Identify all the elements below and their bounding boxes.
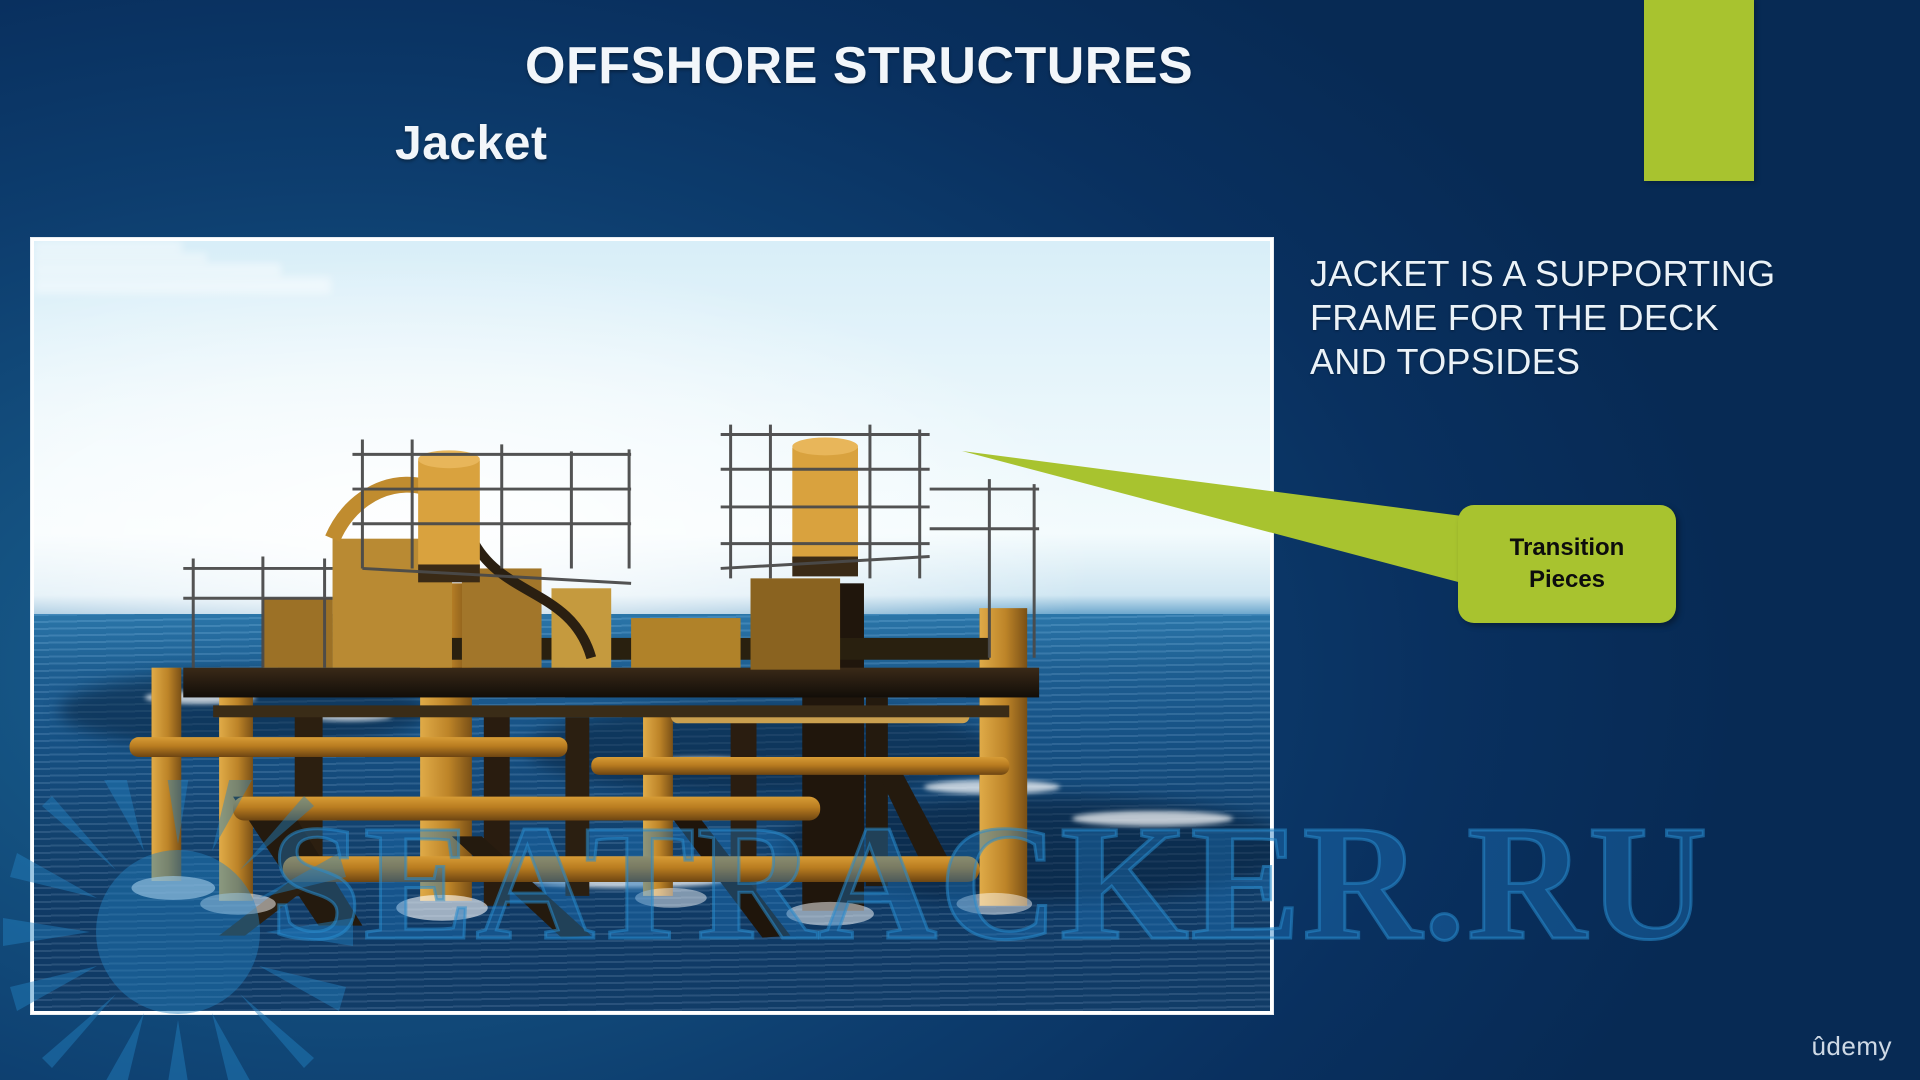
photo-frame [31, 238, 1273, 1014]
page-title-text: OFFSHORE STRUCTURES [525, 36, 1193, 96]
callout-transition-pieces[interactable]: Transition Pieces [1458, 505, 1676, 623]
callout-label-line1: Transition [1510, 534, 1625, 561]
platform-structure [34, 241, 1270, 1011]
callout-label: Transition Pieces [1510, 532, 1625, 596]
callout-label-line2: Pieces [1529, 566, 1605, 593]
offshore-platform-photo [34, 241, 1270, 1011]
decorative-green-bar [1644, 0, 1754, 181]
udemy-logo: ûdemy [1811, 1031, 1892, 1062]
topside-modules [263, 485, 840, 670]
page-title: OFFSHORE STRUCTURES [390, 36, 1590, 96]
body-text: JACKET IS A SUPPORTING FRAME FOR THE DEC… [1310, 252, 1780, 384]
presentation-slide: OFFSHORE STRUCTURES Jacket [0, 0, 1920, 1080]
page-subtitle: Jacket [395, 116, 547, 171]
